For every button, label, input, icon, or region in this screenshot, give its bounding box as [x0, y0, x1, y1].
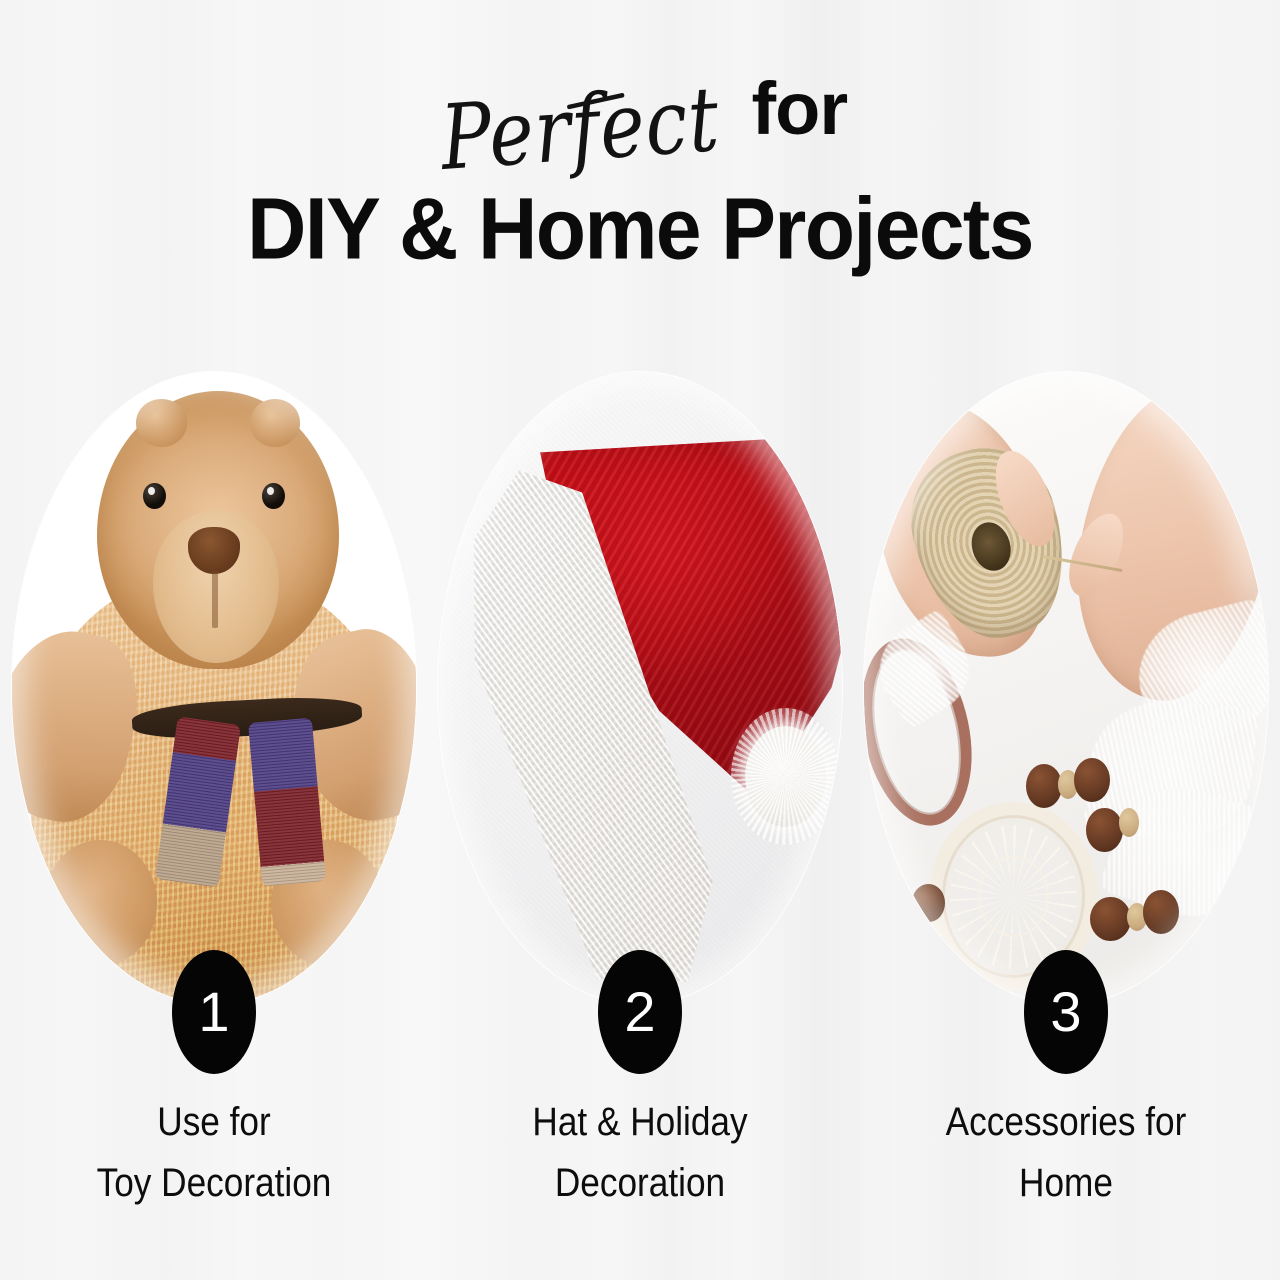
photo-oval-2	[438, 372, 842, 1004]
promo-banner: Perfectfor DIY & Home Projects	[0, 0, 1280, 1280]
bead-5	[1119, 808, 1139, 836]
bear-ear-left	[136, 399, 187, 446]
dreamcatcher-web	[950, 825, 1076, 969]
photo-oval-3	[864, 372, 1268, 1004]
bead-1	[1026, 764, 1062, 808]
card-caption-1: Use for Toy Decoration	[36, 1092, 392, 1214]
caption-line-2a: Hat & Holiday	[462, 1092, 818, 1153]
headline-script-word: Perfect	[438, 75, 723, 184]
bear-scarf	[166, 720, 320, 884]
santa-hat-pom-pom	[745, 726, 826, 827]
step-badge-1: 1	[172, 950, 256, 1074]
santa-hat-photo	[438, 372, 842, 1004]
bead-6	[912, 884, 944, 922]
scarf-strip-right	[248, 717, 327, 886]
feature-cards-row: 1 Use for Toy Decoration 2	[0, 370, 1280, 1280]
caption-line-3a: Accessories for	[888, 1092, 1244, 1153]
bear-mouth-line	[212, 571, 218, 628]
caption-line-3b: Home	[888, 1153, 1244, 1214]
caption-line-1a: Use for	[36, 1092, 392, 1153]
teddy-bear-photo	[12, 372, 416, 1004]
spool-core-hole	[965, 517, 1015, 575]
craft-dreamcatcher-photo	[864, 372, 1268, 1004]
step-badge-2: 2	[598, 950, 682, 1074]
step-badge-3: 3	[1024, 950, 1108, 1074]
step-number-3: 3	[1050, 984, 1081, 1040]
feature-card-2[interactable]: 2 Hat & Holiday Decoration	[438, 370, 842, 1280]
step-number-1: 1	[198, 984, 229, 1040]
feature-card-1[interactable]: 1 Use for Toy Decoration	[12, 370, 416, 1280]
page-title: DIY & Home Projects	[0, 180, 1280, 280]
bear-eye-right	[262, 483, 285, 510]
header-block: Perfectfor DIY & Home Projects	[0, 72, 1280, 274]
step-number-2: 2	[624, 984, 655, 1040]
bear-paw-left	[44, 840, 157, 966]
bear-eye-left	[143, 483, 166, 510]
bead-7	[1090, 897, 1130, 941]
bear-ear-right	[250, 399, 301, 446]
caption-line-2b: Decoration	[462, 1153, 818, 1214]
feature-card-3[interactable]: 3 Accessories for Home	[864, 370, 1268, 1280]
scarf-strip-left	[154, 716, 241, 888]
caption-line-1b: Toy Decoration	[36, 1153, 392, 1214]
card-caption-3: Accessories for Home	[888, 1092, 1244, 1214]
headline-bold-word: for	[752, 72, 848, 146]
headline-top-row: Perfectfor	[0, 72, 1280, 184]
bead-3	[1074, 758, 1110, 802]
photo-oval-1	[12, 372, 416, 1004]
bead-4	[1086, 808, 1122, 852]
card-caption-2: Hat & Holiday Decoration	[462, 1092, 818, 1214]
